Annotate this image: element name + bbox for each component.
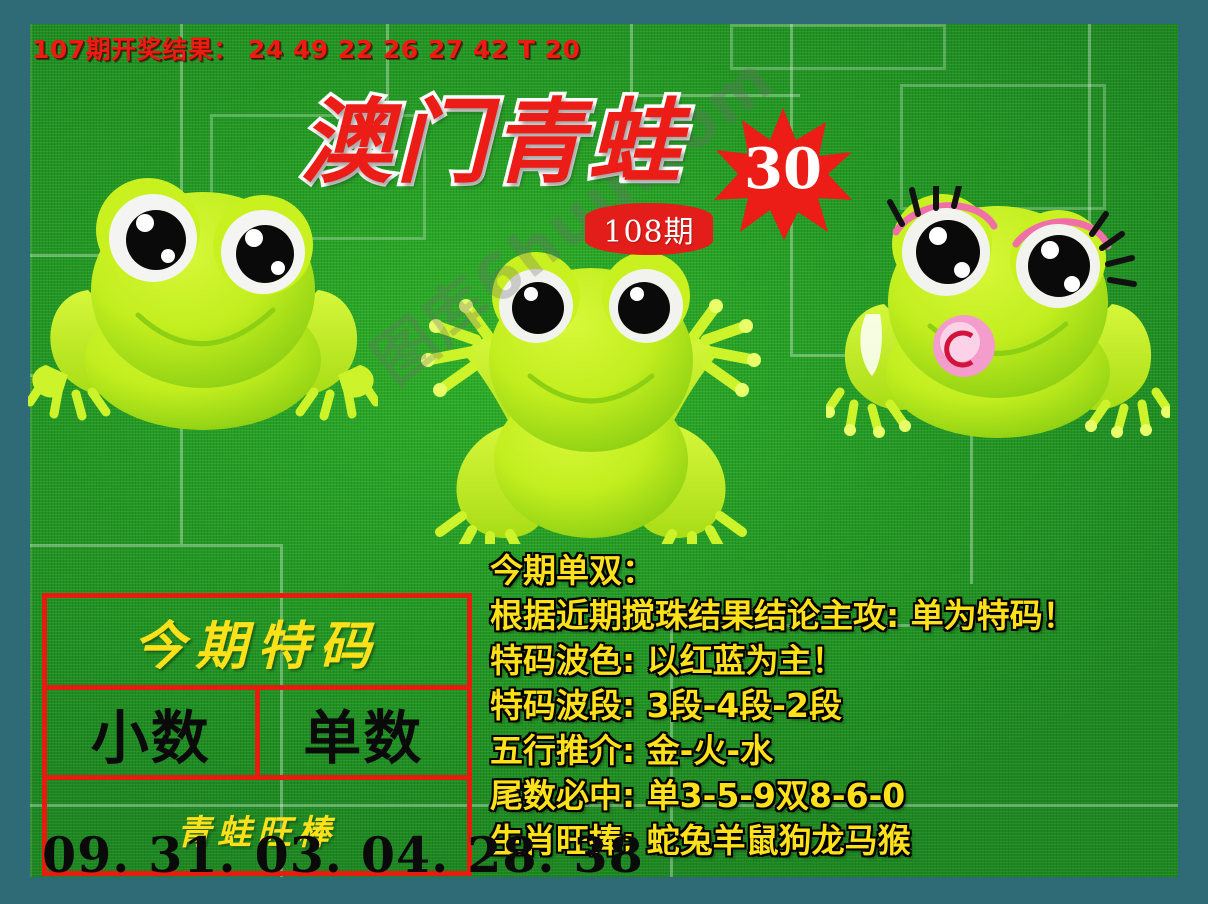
frog-center bbox=[418, 248, 764, 544]
frog-right-female bbox=[826, 186, 1170, 448]
field-line bbox=[630, 24, 633, 94]
recommended-numbers: 09. 31. 03. 04. 28. 38 bbox=[42, 826, 472, 884]
table-cell-odd-label: 单数 bbox=[303, 691, 423, 775]
prediction-line: 五行推介: 金-火-水 bbox=[490, 728, 1130, 773]
table-heading-row: 今期特码 bbox=[47, 598, 467, 690]
poster-root: 107期开奖结果： 24 49 22 26 27 42 T 20 图库6huu.… bbox=[0, 0, 1208, 904]
prediction-block: 今期单双： 根据近期搅珠结果结论主攻: 单为特码！ 特码波色: 以红蓝为主！ 特… bbox=[490, 548, 1130, 863]
table-cell-odd: 单数 bbox=[260, 690, 468, 775]
prediction-line: 特码波段: 3段-4段-2段 bbox=[490, 683, 1130, 728]
field-line bbox=[30, 544, 280, 547]
page-title: 澳门青蛙 bbox=[300, 96, 684, 188]
draw-result-headline: 107期开奖结果： 24 49 22 26 27 42 T 20 bbox=[32, 30, 580, 66]
prediction-line: 今期单双： bbox=[490, 548, 1130, 593]
prediction-line: 特码波色: 以红蓝为主！ bbox=[490, 638, 1130, 683]
field-box bbox=[730, 24, 946, 70]
issue-banner: 108期 bbox=[585, 203, 713, 255]
issue-banner-label: 108期 bbox=[603, 207, 694, 251]
table-cell-small-label: 小数 bbox=[91, 691, 211, 775]
prediction-line: 尾数必中: 单3-5-9双8-6-0 bbox=[490, 773, 1130, 818]
table-value-row: 小数 单数 bbox=[47, 690, 467, 780]
burst-number: 30 bbox=[744, 136, 822, 202]
table-cell-small: 小数 bbox=[47, 690, 260, 775]
prediction-line: 根据近期搅珠结果结论主攻: 单为特码！ bbox=[490, 593, 1130, 638]
table-heading-label: 今期特码 bbox=[133, 604, 381, 679]
